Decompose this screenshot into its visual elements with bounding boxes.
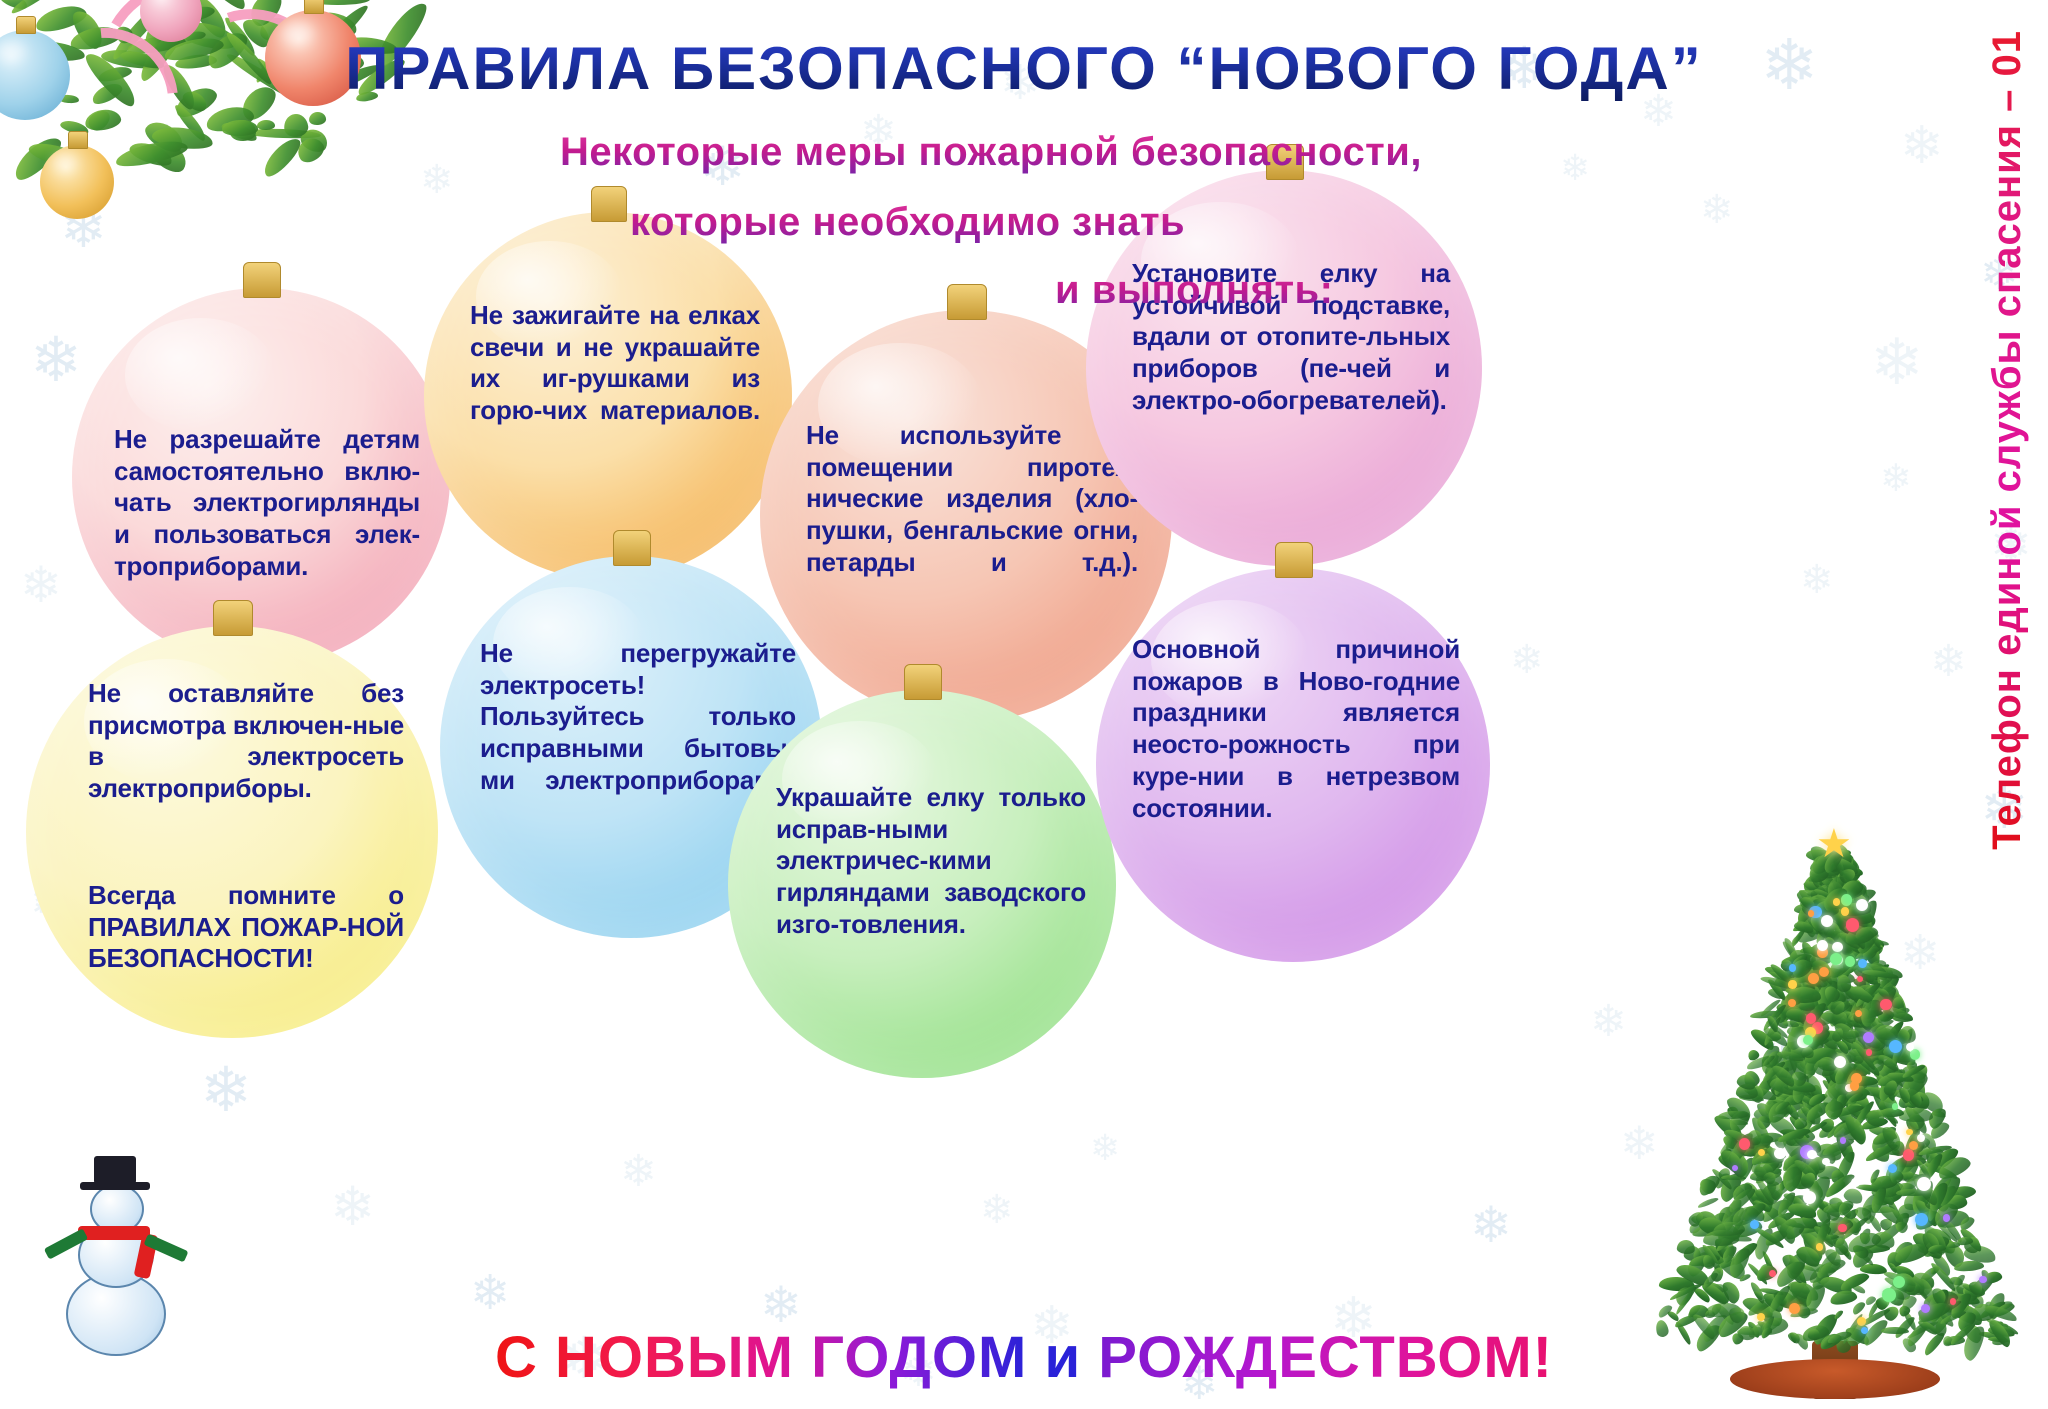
ball-text: Не разрешайте детям самостоятельно вклю-… xyxy=(114,424,420,583)
tree-light xyxy=(1892,1103,1898,1109)
tree-light xyxy=(1921,1304,1930,1313)
greeting-christmas: РОЖДЕСТВОМ! xyxy=(1098,1325,1553,1390)
tree-light xyxy=(1915,1213,1928,1226)
tree-light xyxy=(1909,1141,1918,1150)
tree-branch-tuft xyxy=(1833,1309,1845,1321)
tree-light xyxy=(1774,1148,1786,1160)
ornament-cap xyxy=(904,664,942,700)
ornament-cap xyxy=(613,530,651,566)
ball-children-garlands: Не разрешайте детям самостоятельно вклю-… xyxy=(72,288,450,666)
tree-light xyxy=(1803,1035,1813,1045)
ornament-cap xyxy=(591,186,627,222)
snowflake-icon: ❄ xyxy=(1870,330,1924,394)
snowflake-icon: ❄ xyxy=(1590,1000,1627,1044)
tree-light xyxy=(1834,1056,1846,1068)
snowman-illustration xyxy=(40,1164,200,1354)
greeting-conjunction: и xyxy=(1044,1325,1081,1390)
emergency-phone-label: Телефон единой службы спасения – 01 xyxy=(1985,30,2030,850)
tree-light xyxy=(1750,1220,1759,1229)
snowflake-icon: ❄ xyxy=(1880,460,1912,498)
tree-light xyxy=(1906,1129,1913,1136)
tree-light xyxy=(1833,898,1841,906)
snowflake-icon: ❄ xyxy=(200,1060,252,1122)
tree-light xyxy=(1889,1040,1902,1053)
ball-no-candles: Не зажигайте на елках свечи и не украшай… xyxy=(424,212,792,580)
snowflake-icon: ❄ xyxy=(1560,150,1590,186)
snowflake-icon: ❄ xyxy=(470,1270,510,1318)
tree-light xyxy=(1838,1224,1846,1232)
snowflake-icon: ❄ xyxy=(1900,120,1944,172)
bauble-cap xyxy=(304,0,324,14)
tree-light xyxy=(1856,899,1868,911)
poster-canvas: ❄❄❄❄❄❄❄❄❄❄❄❄❄❄❄❄❄❄❄❄❄❄❄❄❄❄❄❄❄❄❄❄❄❄❄❄❄❄❄❄… xyxy=(0,0,2048,1409)
greeting-new-year: С НОВЫМ ГОДОМ xyxy=(495,1325,1027,1390)
christmas-tree-illustration: ★ xyxy=(1640,839,2030,1399)
ball-unattended-appliances: Не оставляйте без присмотра включен-ные … xyxy=(26,626,438,1038)
snowflake-icon: ❄ xyxy=(1510,640,1544,680)
tree-light xyxy=(1819,967,1829,977)
snowflake-icon: ❄ xyxy=(30,330,82,392)
tree-branch-tuft xyxy=(1837,975,1851,992)
snowflake-icon: ❄ xyxy=(980,1190,1014,1230)
tree-light xyxy=(1857,976,1863,982)
tree-light xyxy=(1846,918,1860,932)
snowflake-icon: ❄ xyxy=(620,1150,657,1194)
tree-branch-tuft xyxy=(1851,1299,1867,1315)
ball-factory-garlands: Украшайте елку только исправ-ными электр… xyxy=(728,690,1116,1078)
tree-light xyxy=(1841,907,1850,916)
tree-light xyxy=(1808,910,1814,916)
tree-light xyxy=(1880,999,1891,1010)
tree-light xyxy=(1788,980,1796,988)
subtitle-line-3: и выполнять: xyxy=(1055,268,1333,313)
ornament-cap xyxy=(213,600,253,636)
snowflake-icon: ❄ xyxy=(1700,190,1734,230)
tree-light xyxy=(1832,942,1843,953)
tree-light xyxy=(1882,1288,1896,1302)
ball-text: Не зажигайте на елках свечи и не украшай… xyxy=(470,300,760,427)
snowflake-icon: ❄ xyxy=(1930,640,1967,684)
subtitle-line-1: Некоторые меры пожарной безопасности, xyxy=(560,130,1422,175)
tree-light xyxy=(1739,1138,1751,1150)
ball-text: Украшайте елку только исправ-ными электр… xyxy=(776,782,1086,941)
tree-light xyxy=(1822,1158,1830,1166)
tree-light xyxy=(1789,964,1797,972)
tree-light xyxy=(1893,1276,1905,1288)
tree-light xyxy=(1979,1276,1987,1284)
ball-highlight xyxy=(125,318,276,431)
tree-light xyxy=(1840,1137,1846,1143)
tree-light xyxy=(1866,1049,1872,1055)
tree-star-icon: ★ xyxy=(1816,821,1852,867)
snowflake-icon: ❄ xyxy=(760,1280,802,1330)
tree-light xyxy=(1789,1303,1800,1314)
ball-text: Основной причиной пожаров в Ново-годние … xyxy=(1132,634,1460,824)
ornament-cap xyxy=(243,262,281,298)
snowman-scarf xyxy=(78,1226,150,1240)
ball-text-secondary: Всегда помните о ПРАВИЛАХ ПОЖАР-НОЙ БЕЗО… xyxy=(88,880,404,975)
snowflake-icon: ❄ xyxy=(330,1180,375,1234)
tree-light xyxy=(1943,1214,1950,1221)
ornament-cap xyxy=(947,284,987,320)
tree-light xyxy=(1830,953,1842,965)
bauble-cap xyxy=(68,131,88,149)
decorative-bauble xyxy=(40,145,114,219)
snowflake-icon: ❄ xyxy=(1090,1130,1120,1166)
snowflake-icon: ❄ xyxy=(20,560,62,610)
ball-text: Не перегружайте электросеть! Пользуйтесь… xyxy=(480,638,796,797)
tree-branch-tuft xyxy=(1697,1196,1720,1209)
snowflake-icon: ❄ xyxy=(420,160,454,200)
tree-light xyxy=(1851,1178,1860,1187)
greeting-banner: С НОВЫМ ГОДОМ и РОЖДЕСТВОМ! xyxy=(0,1324,2048,1391)
tree-light xyxy=(1855,1010,1862,1017)
bauble-cap xyxy=(16,16,36,34)
subtitle-line-2: которые необходимо знать xyxy=(630,200,1185,245)
tree-light xyxy=(1845,956,1855,966)
tree-light xyxy=(1821,915,1833,927)
ball-text: Не оставляйте без присмотра включен-ные … xyxy=(88,678,404,805)
ornament-cap xyxy=(1275,542,1313,578)
emergency-phone-strip: Телефон единой службы спасения – 01 xyxy=(1974,30,2040,1110)
tree-light xyxy=(1950,1298,1957,1305)
snowflake-icon: ❄ xyxy=(1470,1200,1512,1250)
ball-text: Не используйте в помещении пиротех-ничес… xyxy=(806,420,1138,579)
tree-branch-tuft xyxy=(1899,1108,1933,1122)
snowman-hat-crown xyxy=(94,1156,136,1184)
tree-light xyxy=(1769,1270,1776,1277)
page-title: ПРАВИЛА БЕЗОПАСНОГО “НОВОГО ГОДА” xyxy=(0,34,2048,103)
ball-smoking-cause: Основной причиной пожаров в Ново-годние … xyxy=(1096,568,1490,962)
snowflake-icon: ❄ xyxy=(1800,560,1834,600)
